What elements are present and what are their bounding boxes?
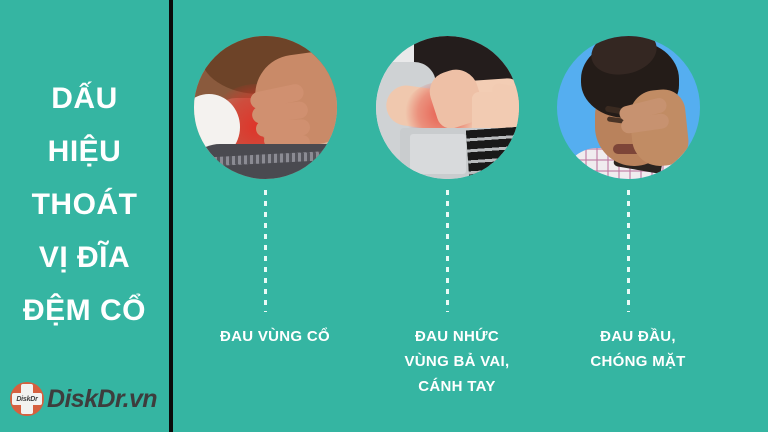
page-title: DẤU HIỆU THOÁT VỊ ĐĨA ĐỆM CỔ: [0, 72, 169, 337]
caption-line: CHÓNG MẶT: [548, 349, 728, 374]
infographic-canvas: DẤU HIỆU THOÁT VỊ ĐĨA ĐỆM CỔ DiskDr Disk…: [0, 0, 768, 432]
connector-dashed-line: [446, 190, 449, 312]
symptom-caption: ĐAU NHỨC VÙNG BẢ VAI, CÁNH TAY: [367, 324, 547, 399]
caption-line: VÙNG BẢ VAI,: [367, 349, 547, 374]
headache-photo: [557, 36, 700, 179]
symptom-item-headache: ĐAU ĐẦU, CHÓNG MẶT: [548, 0, 728, 432]
laptop-keyboard: [466, 126, 519, 179]
title-line-2: HIỆU: [0, 125, 169, 178]
symptom-item-neck-pain: ĐAU VÙNG CỔ: [185, 0, 365, 432]
neck-pain-photo: [194, 36, 337, 179]
title-line-4: VỊ ĐĨA: [0, 231, 169, 284]
arm-pain-photo: [376, 36, 519, 179]
caption-line: ĐAU NHỨC: [367, 324, 547, 349]
title-line-5: ĐỆM CỔ: [0, 284, 169, 337]
logo-mark-label: DiskDr: [16, 396, 37, 403]
symptom-item-arm-pain: ĐAU NHỨC VÙNG BẢ VAI, CÁNH TAY: [367, 0, 547, 432]
caption-line: ĐAU VÙNG CỔ: [185, 324, 365, 349]
caption-line: ĐAU ĐẦU,: [548, 324, 728, 349]
headache-photo-art: [557, 36, 700, 179]
left-panel: DẤU HIỆU THOÁT VỊ ĐĨA ĐỆM CỔ DiskDr Disk…: [0, 0, 169, 432]
symptom-caption: ĐAU VÙNG CỔ: [185, 324, 365, 349]
symptom-caption: ĐAU ĐẦU, CHÓNG MẶT: [548, 324, 728, 374]
brand-logo: DiskDr DiskDr.vn: [10, 382, 157, 416]
title-line-1: DẤU: [0, 72, 169, 125]
arm-pain-photo-art: [376, 36, 519, 179]
caption-line: CÁNH TAY: [367, 374, 547, 399]
connector-dashed-line: [627, 190, 630, 312]
connector-dashed-line: [264, 190, 267, 312]
title-line-3: THOÁT: [0, 178, 169, 231]
neck-pain-photo-art: [194, 36, 337, 179]
laptop-trackpad: [410, 134, 466, 174]
brand-name: DiskDr.vn: [47, 387, 157, 412]
medical-cross-icon: DiskDr: [10, 382, 44, 416]
vertical-divider: [169, 0, 173, 432]
